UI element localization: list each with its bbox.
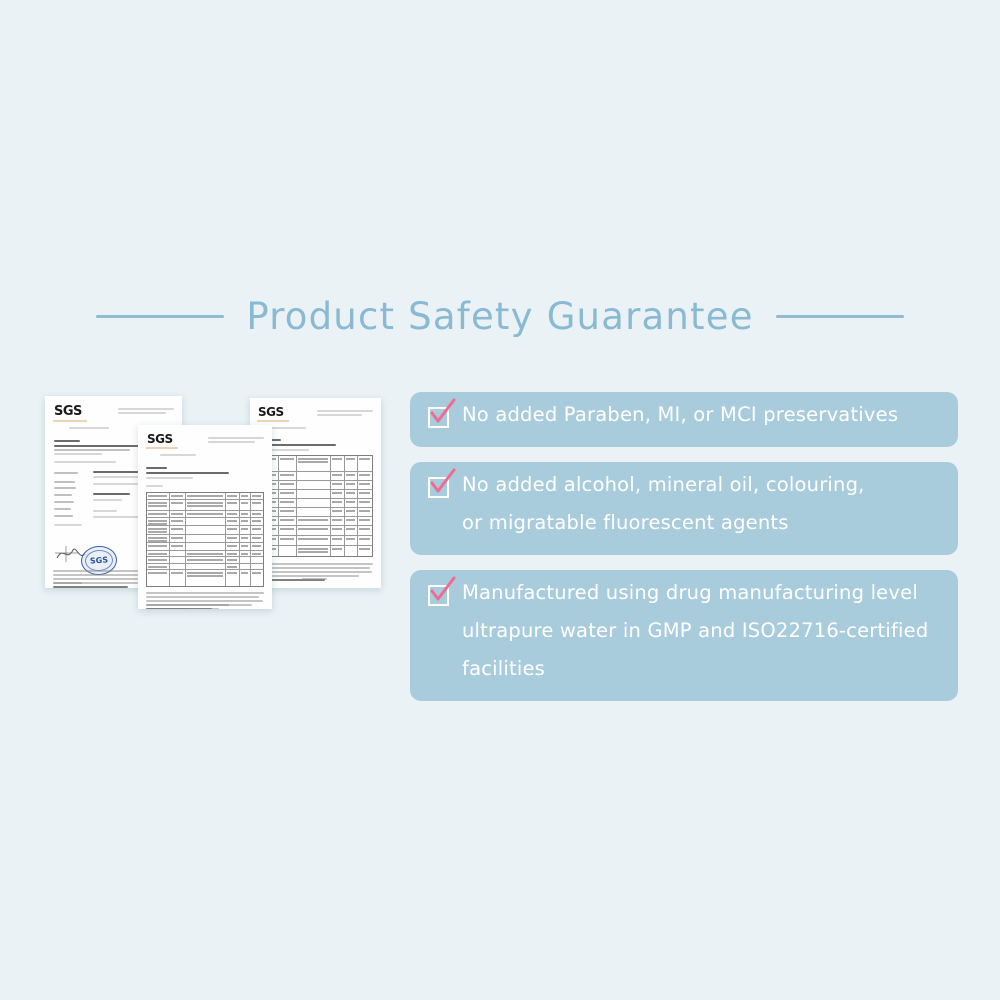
- claim-item-preservatives[interactable]: No added Paraben, MI, or MCI preservativ…: [410, 392, 958, 447]
- claim-line: ultrapure water in GMP and ISO22716-cert…: [462, 612, 928, 650]
- certificate-header-meta: [208, 437, 264, 445]
- claim-text: No added Paraben, MI, or MCI preservativ…: [462, 396, 898, 434]
- checkbox-checked-icon[interactable]: [428, 407, 449, 428]
- claim-line: facilities: [462, 650, 928, 688]
- certificate-result-table: [258, 455, 373, 557]
- page-title: Product Safety Guarantee: [246, 295, 753, 338]
- certificate-header-meta: [118, 408, 174, 416]
- certificate-result-table: [146, 492, 264, 587]
- checkbox-checked-icon[interactable]: [428, 477, 449, 498]
- certificate-footer: [146, 604, 264, 609]
- certificate-gallery: SGS: [0, 380, 400, 630]
- sgs-logo-underline: [146, 447, 178, 449]
- safety-claims-list: No added Paraben, MI, or MCI preservativ…: [410, 392, 958, 701]
- certificate-subheader: [160, 454, 196, 456]
- claim-text: No added alcohol, mineral oil, colouring…: [462, 466, 865, 542]
- certificate-applicant-block: [258, 439, 373, 451]
- claim-item-manufacturing[interactable]: Manufactured using drug manufacturing le…: [410, 570, 958, 701]
- page-header: Product Safety Guarantee: [0, 288, 1000, 344]
- checkbox-checked-icon[interactable]: [428, 585, 449, 606]
- certificate-applicant-block: [146, 467, 264, 487]
- sgs-logo-icon: SGS: [54, 405, 82, 418]
- certificate-field-labels: [54, 472, 80, 517]
- claim-line: No added alcohol, mineral oil, colouring…: [462, 466, 865, 504]
- claim-line: or migratable fluorescent agents: [462, 504, 865, 542]
- claim-line: Manufactured using drug manufacturing le…: [462, 574, 928, 612]
- claim-text: Manufactured using drug manufacturing le…: [462, 574, 928, 688]
- claim-line: No added Paraben, MI, or MCI preservativ…: [462, 396, 898, 434]
- sgs-logo-underline: [53, 420, 87, 422]
- sgs-logo-icon: SGS: [258, 406, 284, 418]
- sgs-certificate-middle[interactable]: SGS: [138, 425, 272, 609]
- certificate-subheader: [69, 427, 109, 431]
- certificate-header-meta: [317, 410, 373, 418]
- certificate-footer: [258, 578, 373, 582]
- sgs-logo-icon: SGS: [147, 433, 173, 445]
- certificate-note-line: [54, 524, 104, 526]
- sgs-logo-underline: [257, 420, 289, 422]
- certificate-subheader: [270, 427, 306, 429]
- claim-item-additives[interactable]: No added alcohol, mineral oil, colouring…: [410, 462, 958, 555]
- title-rule-left: [96, 315, 224, 318]
- title-rule-right: [776, 315, 904, 318]
